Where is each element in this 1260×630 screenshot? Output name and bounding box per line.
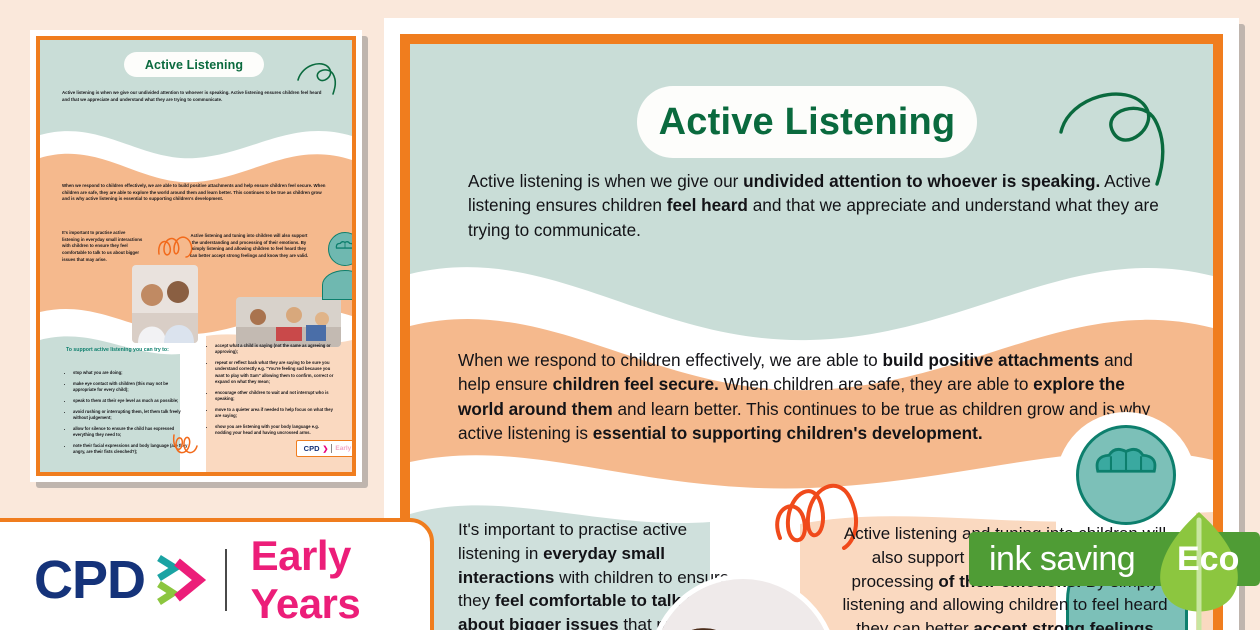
main-title-pill: Active Listening — [637, 86, 977, 158]
list-item: show you are listening with your body la… — [215, 424, 334, 437]
list-item: stop what you are doing; — [73, 370, 192, 376]
thumbnail-title: Active Listening — [145, 58, 243, 72]
thumbnail-logo-divider — [331, 444, 332, 453]
list-item: avoid rushing or interrupting them, let … — [73, 409, 192, 422]
main-poster-title: Active Listening — [659, 101, 956, 144]
brand-logo-card[interactable]: CPD Early Years — [0, 518, 434, 630]
thumbnail-poster-body[interactable]: Active Listening Active listening is whe… — [40, 40, 352, 472]
main-paragraph-2: When we respond to children effectively,… — [458, 348, 1170, 446]
logo-early-years-text: Early Years — [251, 532, 430, 628]
thumbnail-photo-classroom — [236, 297, 341, 347]
list-item: speak to them at their eye level as much… — [73, 398, 192, 404]
thumbnail-photo-children — [132, 265, 198, 343]
orange-squiggle-icon-thumb-bottom — [170, 432, 216, 458]
thumbnail-logo-early-years: Early Years — [335, 445, 352, 452]
thumbnail-blurb-left: It's important to practise active listen… — [62, 230, 144, 263]
thumbnail-list-heading: To support active listening you can try … — [66, 347, 176, 355]
thumbnail-blurb-right: Active listening and tuning into childre… — [188, 233, 310, 260]
logo-chevron-icon — [155, 552, 209, 608]
main-paragraph-1: Active listening is when we give our und… — [468, 169, 1168, 242]
logo-divider — [225, 549, 227, 611]
thumbnail-logo-cpd: CPD — [304, 444, 320, 453]
eco-badge: ink saving Eco — [969, 528, 1260, 590]
list-item: encourage other children to wait and not… — [215, 390, 334, 403]
thumbnail-bullet-list-right: accept what a child is saying (not the s… — [208, 343, 334, 441]
thumbnail-title-pill: Active Listening — [124, 52, 264, 77]
eco-label: Eco — [1177, 540, 1239, 579]
list-item: move to a quieter area if needed to help… — [215, 407, 334, 420]
eco-ink-saving-label: ink saving — [989, 540, 1135, 579]
thumbnail-paragraph-1: Active listening is when we give our und… — [62, 90, 330, 103]
thumbnail-logo-chevron-icon: ❯ — [323, 445, 329, 453]
thumbnail-brand-logo: CPD ❯ Early Years — [296, 440, 352, 457]
list-item: accept what a child is saying (not the s… — [215, 343, 334, 356]
list-item: make eye contact with children (this may… — [73, 381, 192, 394]
list-item: repeat or reflect back what they are say… — [215, 360, 334, 385]
poster-preview-page: Active Listening Active listening is whe… — [0, 0, 1260, 630]
thumbnail-head-body-shape — [322, 270, 352, 300]
thumbnail-brain-head-icon — [328, 232, 352, 266]
logo-cpd-text: CPD — [34, 549, 145, 611]
thumbnail-paragraph-2: When we respond to children effectively,… — [62, 183, 330, 203]
